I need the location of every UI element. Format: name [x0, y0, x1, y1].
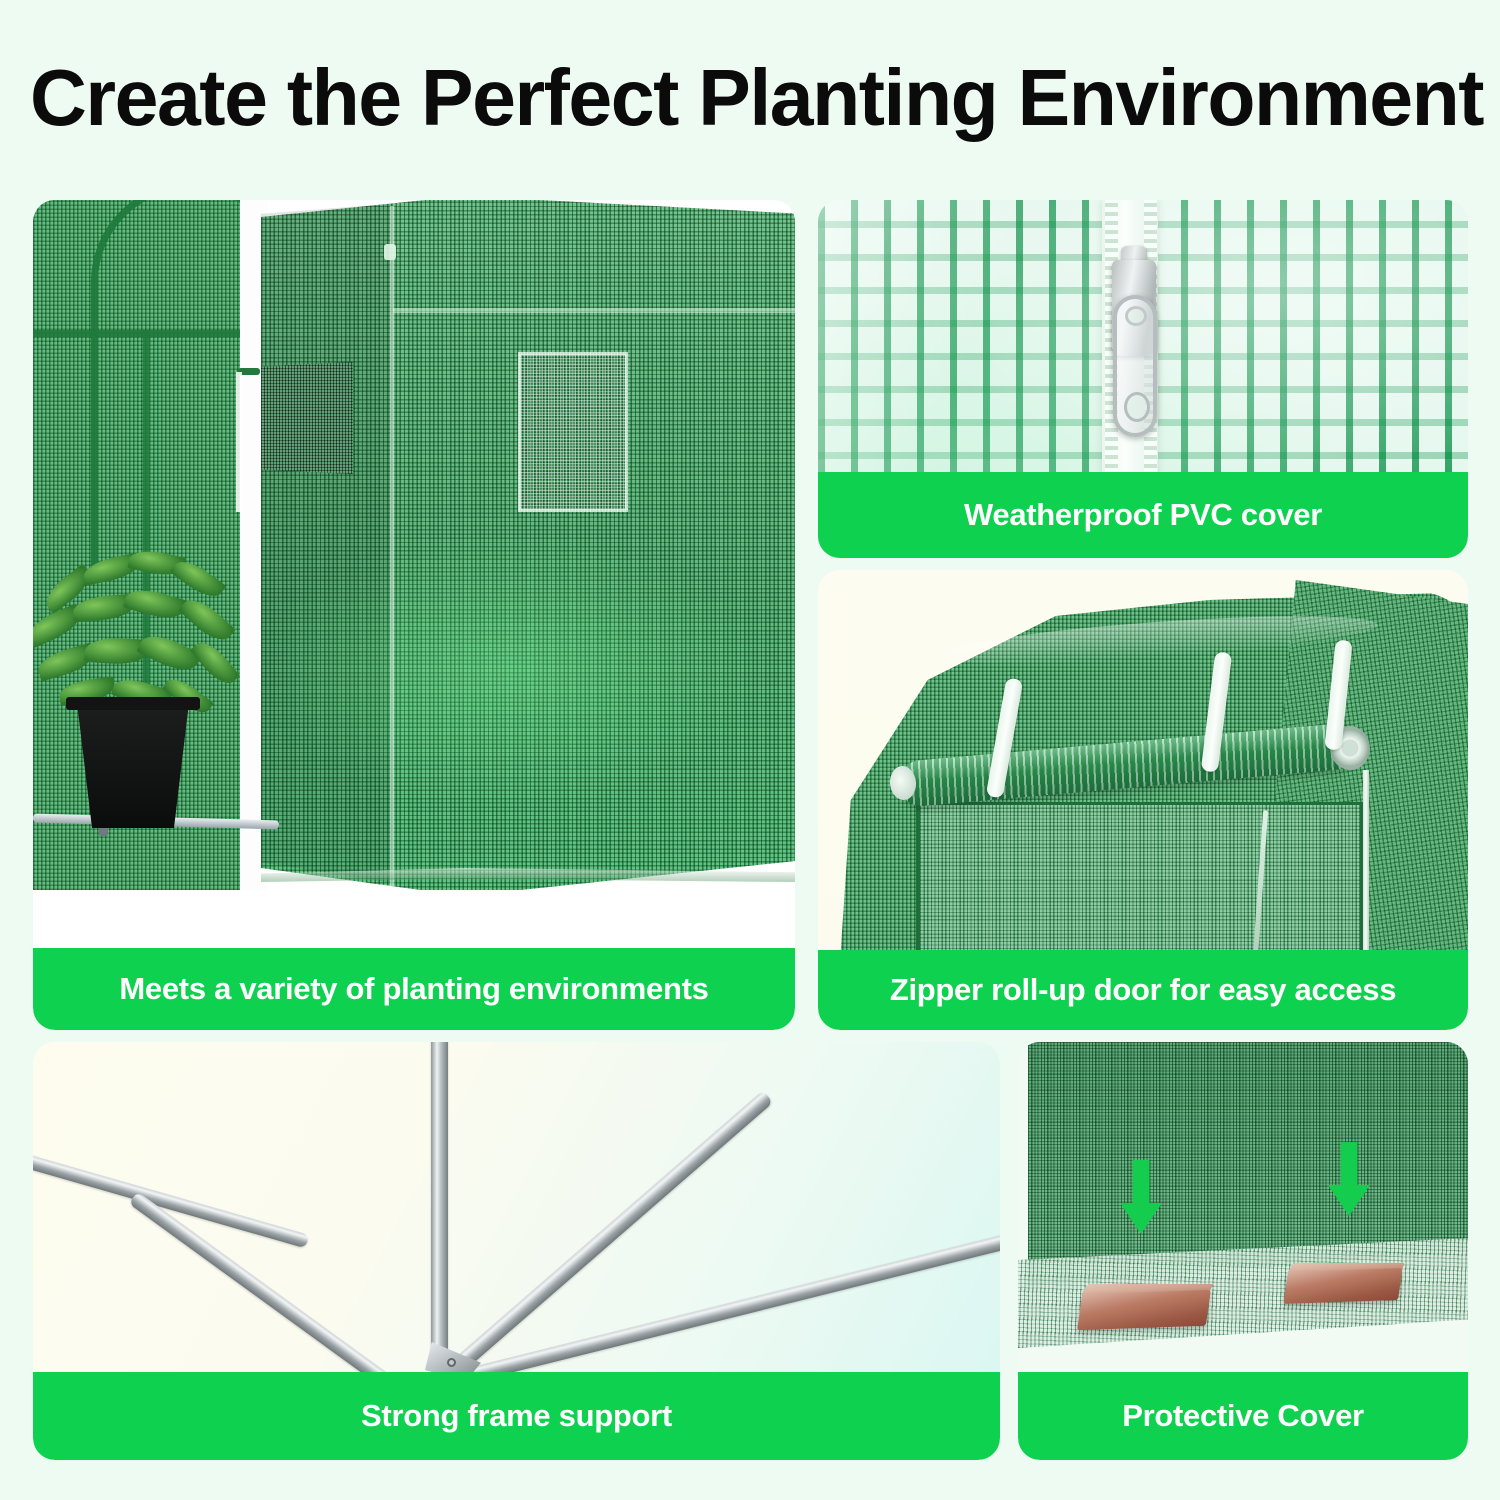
mesh-window-left: [261, 362, 353, 474]
joint-bolt: [447, 1358, 456, 1367]
caption-protective-cover: Protective Cover: [1018, 1372, 1468, 1460]
mesh-vent-window: [518, 352, 628, 512]
panel-planting-environments: Meets a variety of planting environments: [33, 200, 795, 1030]
frame-tube-vertical: [431, 1042, 448, 1372]
weight-brick: [1077, 1290, 1211, 1330]
panel-strong-frame-support: Strong frame support: [33, 1042, 1000, 1460]
zipper-pull-lower-hole: [1124, 392, 1150, 422]
caption-strong-frame-support: Strong frame support: [33, 1372, 1000, 1460]
plant-pot-rim: [66, 697, 200, 710]
caption-weatherproof-pvc-cover: Weatherproof PVC cover: [818, 472, 1468, 558]
horizontal-seam: [393, 308, 795, 313]
interior-glow: [283, 520, 783, 820]
photo-greenhouse-with-plant: [33, 200, 795, 1030]
zipper-pull-upper-hole: [1125, 306, 1147, 326]
panel-zipper-rollup-door: Zipper roll-up door for easy access: [818, 570, 1468, 1030]
zipper-tab-icon: [384, 244, 396, 260]
caption-planting-environments: Meets a variety of planting environments: [33, 948, 795, 1030]
panel-weatherproof-pvc-cover: Weatherproof PVC cover: [818, 200, 1468, 558]
weight-brick: [1283, 1268, 1402, 1304]
door-edge-strip: [236, 372, 242, 512]
panel-protective-cover: Protective Cover: [1018, 1042, 1468, 1460]
caption-zipper-rollup-door: Zipper roll-up door for easy access: [818, 950, 1468, 1030]
infographic-page: Create the Perfect Planting Environment: [0, 0, 1500, 1500]
page-title: Create the Perfect Planting Environment: [30, 58, 1456, 138]
